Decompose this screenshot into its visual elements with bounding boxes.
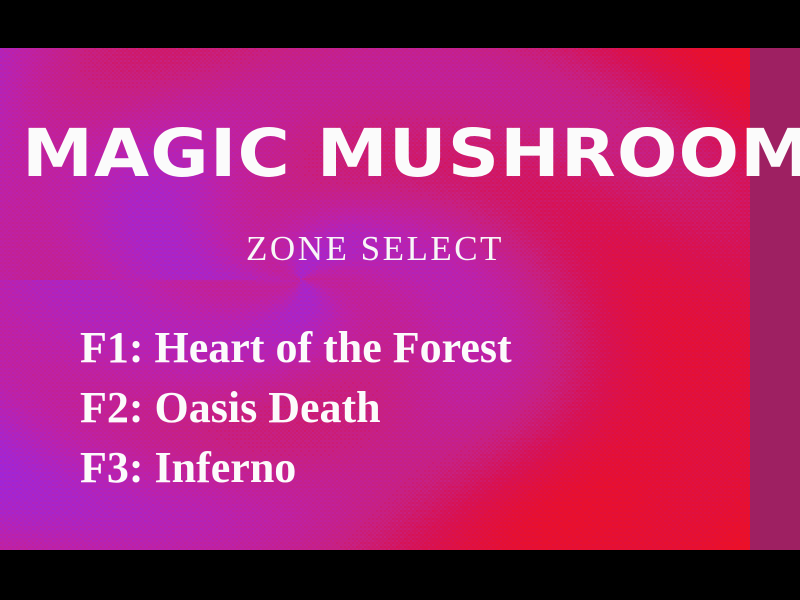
- letterbox-bottom: [0, 550, 800, 600]
- screen-subtitle: ZONE SELECT: [0, 230, 750, 268]
- zone-select-menu: F1: Heart of the Forest F2: Oasis Death …: [80, 318, 740, 498]
- game-screen: MAGIC MUSHROOM ZONE SELECT F1: Heart of …: [0, 0, 800, 600]
- page-title: MAGIC MUSHROOM: [22, 120, 795, 188]
- menu-item-f2[interactable]: F2: Oasis Death: [80, 378, 740, 438]
- menu-item-f3[interactable]: F3: Inferno: [80, 438, 740, 498]
- menu-item-f1[interactable]: F1: Heart of the Forest: [80, 318, 740, 378]
- letterbox-top: [0, 0, 800, 48]
